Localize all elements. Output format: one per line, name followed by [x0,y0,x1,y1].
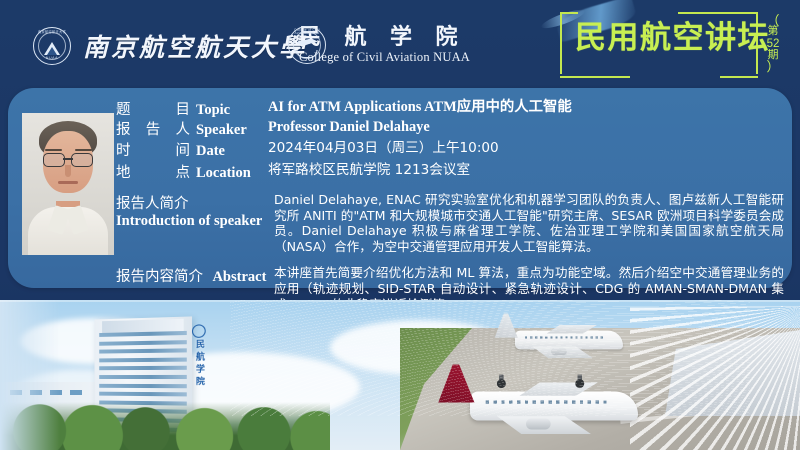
value-location: 将军路校区民航学院 1213会议室 [268,161,784,180]
label-location: 地点 Location [116,161,268,182]
photo-mouth [58,181,78,184]
college-logo: College of Civil Aviation NUAA 民 航 学 院 C… [288,26,470,64]
issue-label: 第 [768,26,779,38]
radial-line-decoration [630,306,800,450]
poster-header: 南京航空航天大学 NUAA 南京航空航天大學 College of Civil … [0,0,800,88]
info-row-topic: 题目 Topic AI for ATM Applications ATM应用中的… [116,98,784,118]
label-intro-cn: 报告人简介 [116,192,268,213]
value-speaker: Professor Daniel Delahaye [268,118,784,137]
info-block-intro: 报告人简介 Introduction of speaker Daniel Del… [116,192,784,254]
value-date: 2024年04月03日（周三）上午10:00 [268,139,784,158]
label-date-cn: 时间 [116,139,190,160]
info-row-date: 时间 Date 2024年04月03日（周三）上午10:00 [116,139,784,161]
ccan-seal-icon: College of Civil Aviation NUAA [288,26,326,64]
building-sign: 民航学院 [194,339,207,389]
speaker-photo [22,113,114,255]
seal-top-text: 南京航空航天大学 [34,31,70,34]
label-location-en: Location [196,165,251,182]
badge-border-top-left [560,12,578,14]
label-date-en: Date [196,143,225,160]
label-location-cn: 地点 [116,161,190,182]
forum-title: 民用航空讲坛 [575,23,770,54]
label-topic-en: Topic [196,102,230,119]
label-abstract-en: Abstract [212,269,266,285]
issue-paren-close: ） [766,62,779,72]
label-topic: 题目 Topic [116,98,268,119]
info-rows: 题目 Topic AI for ATM Applications ATM应用中的… [116,98,784,312]
info-row-speaker: 报告人 Speaker Professor Daniel Delahaye [116,118,784,139]
label-abstract-cn: 报告内容简介 [116,269,203,285]
forum-issue-badge: （ 第 52 期 ） [760,17,786,71]
label-date: 时间 Date [116,139,268,160]
nuaa-seal-icon: 南京航空航天大学 NUAA [33,27,71,65]
college-seal-top-text: College of Civil Aviation NUAA [289,29,325,35]
aircraft-engine [551,348,567,355]
aircraft-windows [525,336,604,338]
aircraft-wheel [497,379,506,388]
label-topic-cn: 题目 [116,98,190,119]
photo-nose [65,165,71,177]
banner-top-edge [0,300,800,302]
value-topic: AI for ATM Applications ATM应用中的人工智能 [268,98,784,117]
label-intro: 报告人简介 Introduction of speaker [116,192,274,254]
text-intro: Daniel Delahaye, ENAC 研究实验室优化和机器学习团队的负责人… [274,192,784,254]
label-speaker-cn: 报告人 [116,118,190,139]
label-speaker: 报告人 Speaker [116,118,268,139]
seal-bottom-text: NUAA [34,57,70,61]
university-name: 南京航空航天大學 [83,28,307,64]
banner-left-fade [0,300,60,450]
seal-ribbon [297,50,318,58]
badge-border-bottom-left [560,76,630,78]
aircraft-windows [486,400,609,403]
seal-wing-icon [296,37,319,47]
poster-root: 南京航空航天大学 NUAA 南京航空航天大學 College of Civil … [0,0,800,450]
college-name-en: College of Civil Aviation NUAA [299,51,470,64]
info-row-location: 地点 Location 将军路校区民航学院 1213会议室 [116,161,784,183]
badge-border-left [560,12,562,74]
university-logo: 南京航空航天大学 NUAA 南京航空航天大學 [33,27,307,65]
forum-badge: 民用航空讲坛 （ 第 52 期 ） [560,12,788,78]
bottom-photo-banner: 民航学院 [0,300,800,450]
seal-mountain-mark [43,39,61,55]
badge-border-bottom-right [720,76,758,78]
label-speaker-en: Speaker [196,122,247,139]
info-panel: 题目 Topic AI for ATM Applications ATM应用中的… [8,88,792,288]
aircraft-wheel [575,379,584,388]
aircraft-engine [526,418,551,429]
badge-border-top-right [678,12,758,14]
label-intro-en: Introduction of speaker [116,213,268,230]
